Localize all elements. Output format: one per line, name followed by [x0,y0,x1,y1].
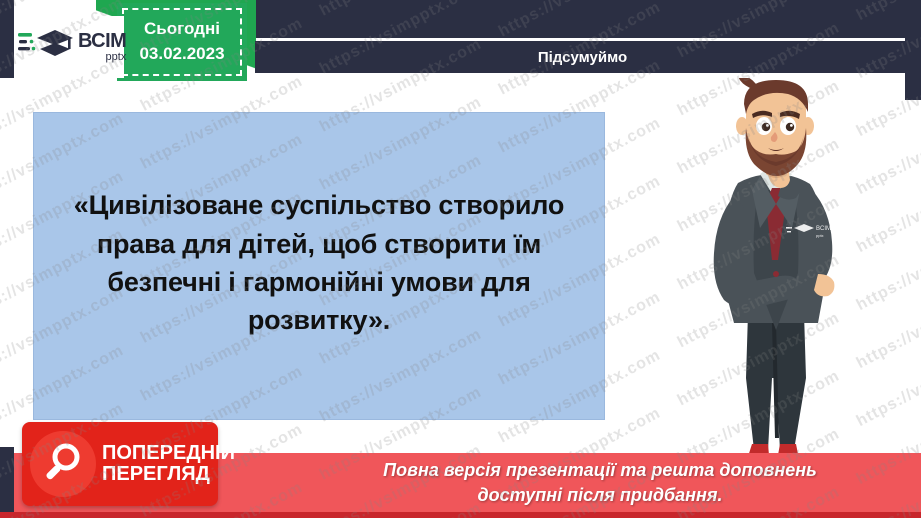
slide-title-bar: Підсумуймо [255,41,910,73]
logo-wordmark: ВСІМ pptx [78,31,126,63]
brand-logo[interactable]: ВСІМ pptx [14,16,124,78]
date-badge: Сьогодні 03.02.2023 [117,3,247,81]
preview-badge-line-1: ПОПЕРЕДНІЙ [102,443,235,464]
footer-left-dark-strip [0,447,14,512]
slide-title: Підсумуймо [538,49,627,66]
graduation-cap-icon [18,25,76,70]
footer-banner-line-2: доступні після придбання. [290,483,910,507]
magnifier-icon [30,431,96,497]
footer-banner-line-1: Повна версія презентації та решта доповн… [290,458,910,482]
logo-title: ВСІМ [78,30,126,52]
logo-subtitle: pptx [78,52,126,63]
date-badge-value: 03.02.2023 [139,42,224,67]
svg-text:pptx: pptx [816,233,824,238]
presentation-slide: Сьогодні 03.02.2023 ВСІМ pptx Підсумуймо [0,0,921,518]
preview-badge-label: ПОПЕРЕДНІЙ ПЕРЕГЛЯД [102,443,235,485]
preview-badge[interactable]: ПОПЕРЕДНІЙ ПЕРЕГЛЯД [22,422,218,506]
quote-text: «Цивілізоване суспільство створило права… [57,186,581,339]
bearded-man-thinking-illustration: BCIM pptx [676,78,876,498]
date-badge-label: Сьогодні [144,17,220,42]
svg-text:BCIM: BCIM [816,226,831,232]
quote-panel: «Цивілізоване суспільство створило права… [33,112,605,420]
footer-banner-text: Повна версія презентації та решта доповн… [290,458,910,507]
top-left-dark-strip [0,0,14,78]
top-dark-band [240,0,921,38]
preview-badge-line-2: ПЕРЕГЛЯД [102,464,235,485]
